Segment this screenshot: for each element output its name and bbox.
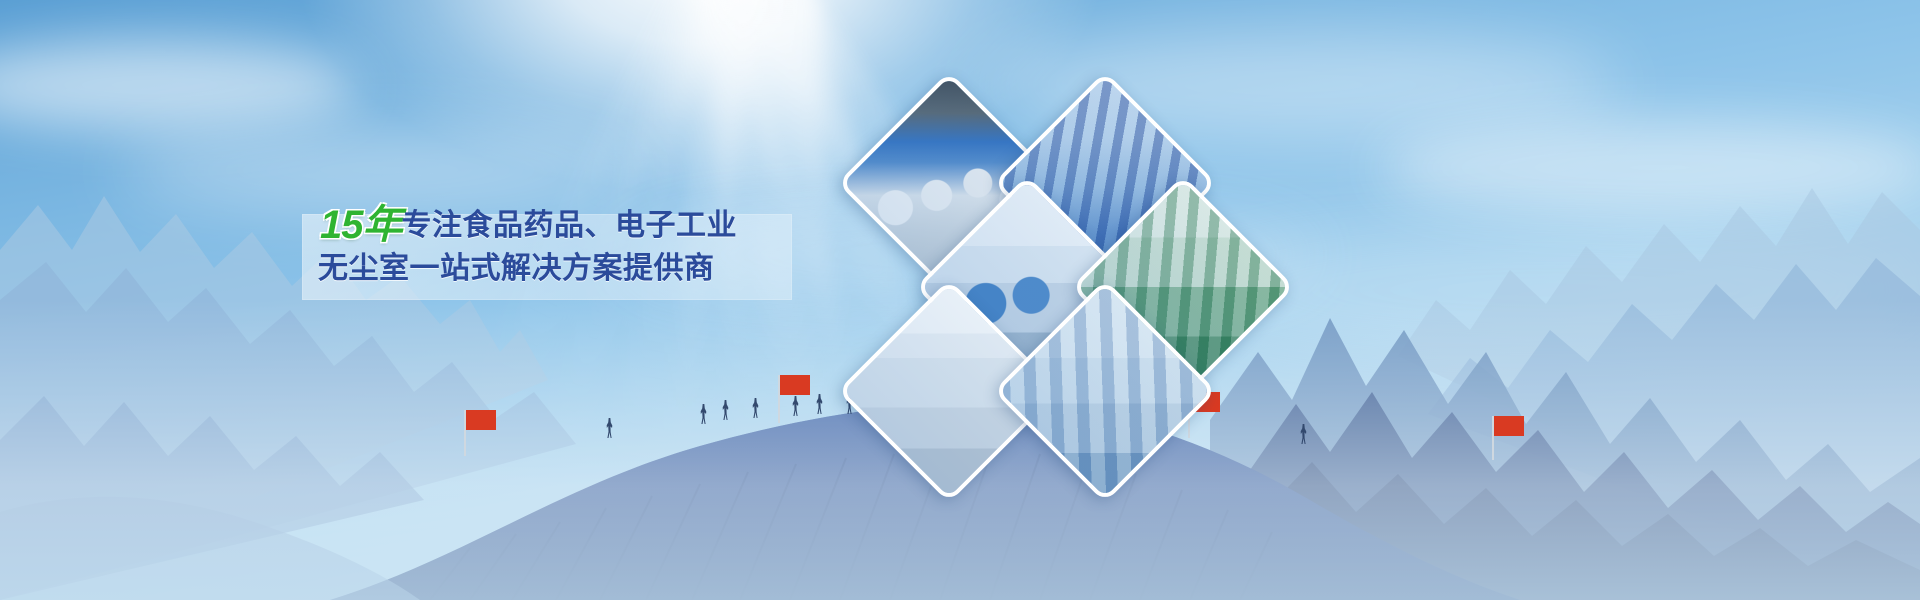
years-accent-text: 15年 [320,203,402,247]
hero-banner: 15年专注食品药品、电子工业 无尘室一站式解决方案提供商 [0,0,1920,600]
headline-line-2: 无尘室一站式解决方案提供商 [318,252,715,286]
diamond-photo-collage [846,96,1276,468]
headline-line-1-rest: 专注食品药品、电子工业 [402,209,738,242]
flag-icon-4 [1492,416,1522,460]
flag-icon-1 [464,410,498,456]
headline-line-1: 15年专注食品药品、电子工业 [320,208,737,243]
